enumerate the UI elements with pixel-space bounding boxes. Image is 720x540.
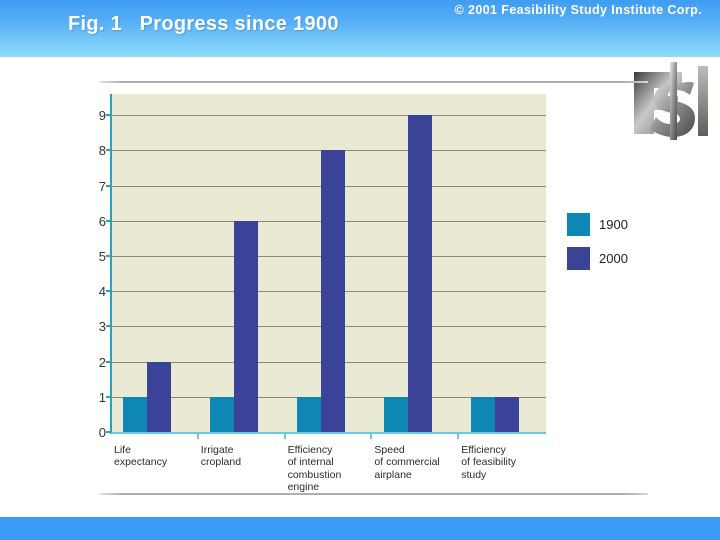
- x-axis-category-label: Efficiency of feasibility study: [461, 444, 560, 481]
- bar-1900-4: [471, 397, 495, 432]
- x-axis-tick: [284, 434, 286, 439]
- legend-label-2000: 2000: [599, 251, 628, 266]
- y-axis-tick: [106, 396, 111, 398]
- y-axis-tick-label: 6: [80, 215, 106, 228]
- plot-area: [110, 94, 546, 434]
- y-axis-tick-label: 4: [80, 285, 106, 298]
- y-axis-tick-label: 0: [80, 426, 106, 439]
- y-axis-tick: [106, 431, 111, 433]
- y-axis-tick: [106, 290, 111, 292]
- copyright-text: © 2001 Feasibility Study Institute Corp.: [455, 3, 702, 17]
- y-axis-tick: [106, 149, 111, 151]
- y-axis-tick-label: 1: [80, 391, 106, 404]
- x-axis-tick: [370, 434, 372, 439]
- legend-swatch-1900: [567, 213, 590, 236]
- legend-label-1900: 1900: [599, 217, 628, 232]
- x-axis-category-label: Life expectancy: [114, 444, 213, 469]
- legend-item-1900: 1900: [567, 207, 677, 241]
- y-axis-tick-label: 2: [80, 356, 106, 369]
- y-axis-tick: [106, 185, 111, 187]
- y-axis-tick-label: 7: [80, 180, 106, 193]
- bar-2000-0: [147, 362, 171, 432]
- x-axis-category-label: Speed of commercial airplane: [374, 444, 473, 481]
- y-axis-tick-label: 3: [80, 320, 106, 333]
- footer-bar: [0, 517, 720, 540]
- x-axis-tick: [457, 434, 459, 439]
- y-axis-tick: [106, 361, 111, 363]
- bar-1900-1: [210, 397, 234, 432]
- y-axis-tick-label: 5: [80, 250, 106, 263]
- y-axis-tick-label: 8: [80, 144, 106, 157]
- bar-1900-0: [123, 397, 147, 432]
- y-axis-tick: [106, 255, 111, 257]
- bar-2000-4: [495, 397, 519, 432]
- y-axis-tick: [106, 114, 111, 116]
- y-axis-tick: [106, 220, 111, 222]
- y-axis: 0123456789: [76, 94, 106, 432]
- legend-swatch-2000: [567, 247, 590, 270]
- bar-1900-2: [297, 397, 321, 432]
- legend-item-2000: 2000: [567, 241, 677, 275]
- legend: 1900 2000: [567, 207, 677, 275]
- bar-2000-2: [321, 150, 345, 432]
- bar-2000-3: [408, 115, 432, 432]
- y-axis-tick-label: 9: [80, 109, 106, 122]
- gridline: [112, 115, 546, 116]
- y-axis-tick: [106, 325, 111, 327]
- bar-2000-1: [234, 221, 258, 432]
- bar-1900-3: [384, 397, 408, 432]
- x-axis-category-label: Irrigate cropland: [201, 444, 300, 469]
- x-axis-category-label: Efficiency of internal combustion engine: [288, 444, 387, 494]
- x-axis-tick: [197, 434, 199, 439]
